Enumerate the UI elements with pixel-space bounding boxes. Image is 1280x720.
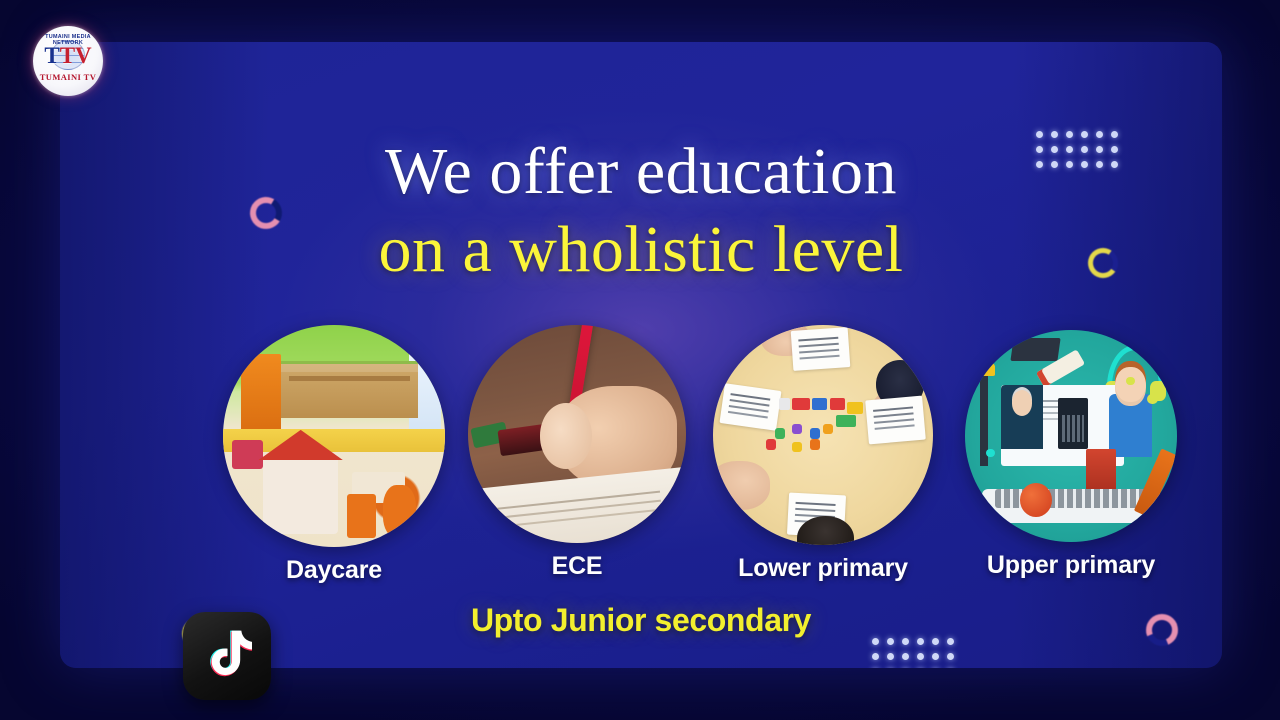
program-label-ece: ECE bbox=[468, 552, 686, 581]
children-worksheets-table-photo bbox=[713, 325, 933, 545]
program-item-upper-primary[interactable]: Upper primary bbox=[965, 330, 1177, 580]
slide-card: We offer education on a wholistic level bbox=[60, 42, 1222, 668]
arc-top-left-icon bbox=[247, 194, 286, 233]
child-writing-with-pencil-photo bbox=[468, 325, 686, 543]
logo-monogram: TTV bbox=[36, 44, 100, 67]
dot-grid-top-right-icon bbox=[1036, 131, 1118, 168]
program-item-lower-primary[interactable]: Lower primary bbox=[713, 325, 933, 583]
program-label-lower-primary: Lower primary bbox=[713, 554, 933, 583]
arc-top-right-icon bbox=[1086, 246, 1121, 281]
daycare-classroom-photo bbox=[223, 325, 445, 547]
online-learning-illustration bbox=[965, 330, 1177, 542]
subline-text: Upto Junior secondary bbox=[471, 602, 811, 638]
headline-line-2: on a wholistic level bbox=[60, 210, 1222, 290]
program-label-upper-primary: Upper primary bbox=[965, 551, 1177, 580]
program-item-ece[interactable]: ECE bbox=[468, 325, 686, 581]
program-label-daycare: Daycare bbox=[223, 556, 445, 585]
tiktok-badge[interactable] bbox=[183, 612, 271, 700]
program-item-daycare[interactable]: Daycare bbox=[223, 325, 445, 585]
channel-logo-badge: TUMAINI MEDIA NETWORK TTV TUMAINI TV bbox=[33, 26, 103, 96]
dot-grid-bottom-right-icon bbox=[872, 638, 954, 668]
slide-stage: We offer education on a wholistic level bbox=[0, 0, 1280, 720]
tiktok-icon bbox=[202, 629, 252, 683]
logo-channel-name: TUMAINI TV bbox=[36, 72, 100, 82]
